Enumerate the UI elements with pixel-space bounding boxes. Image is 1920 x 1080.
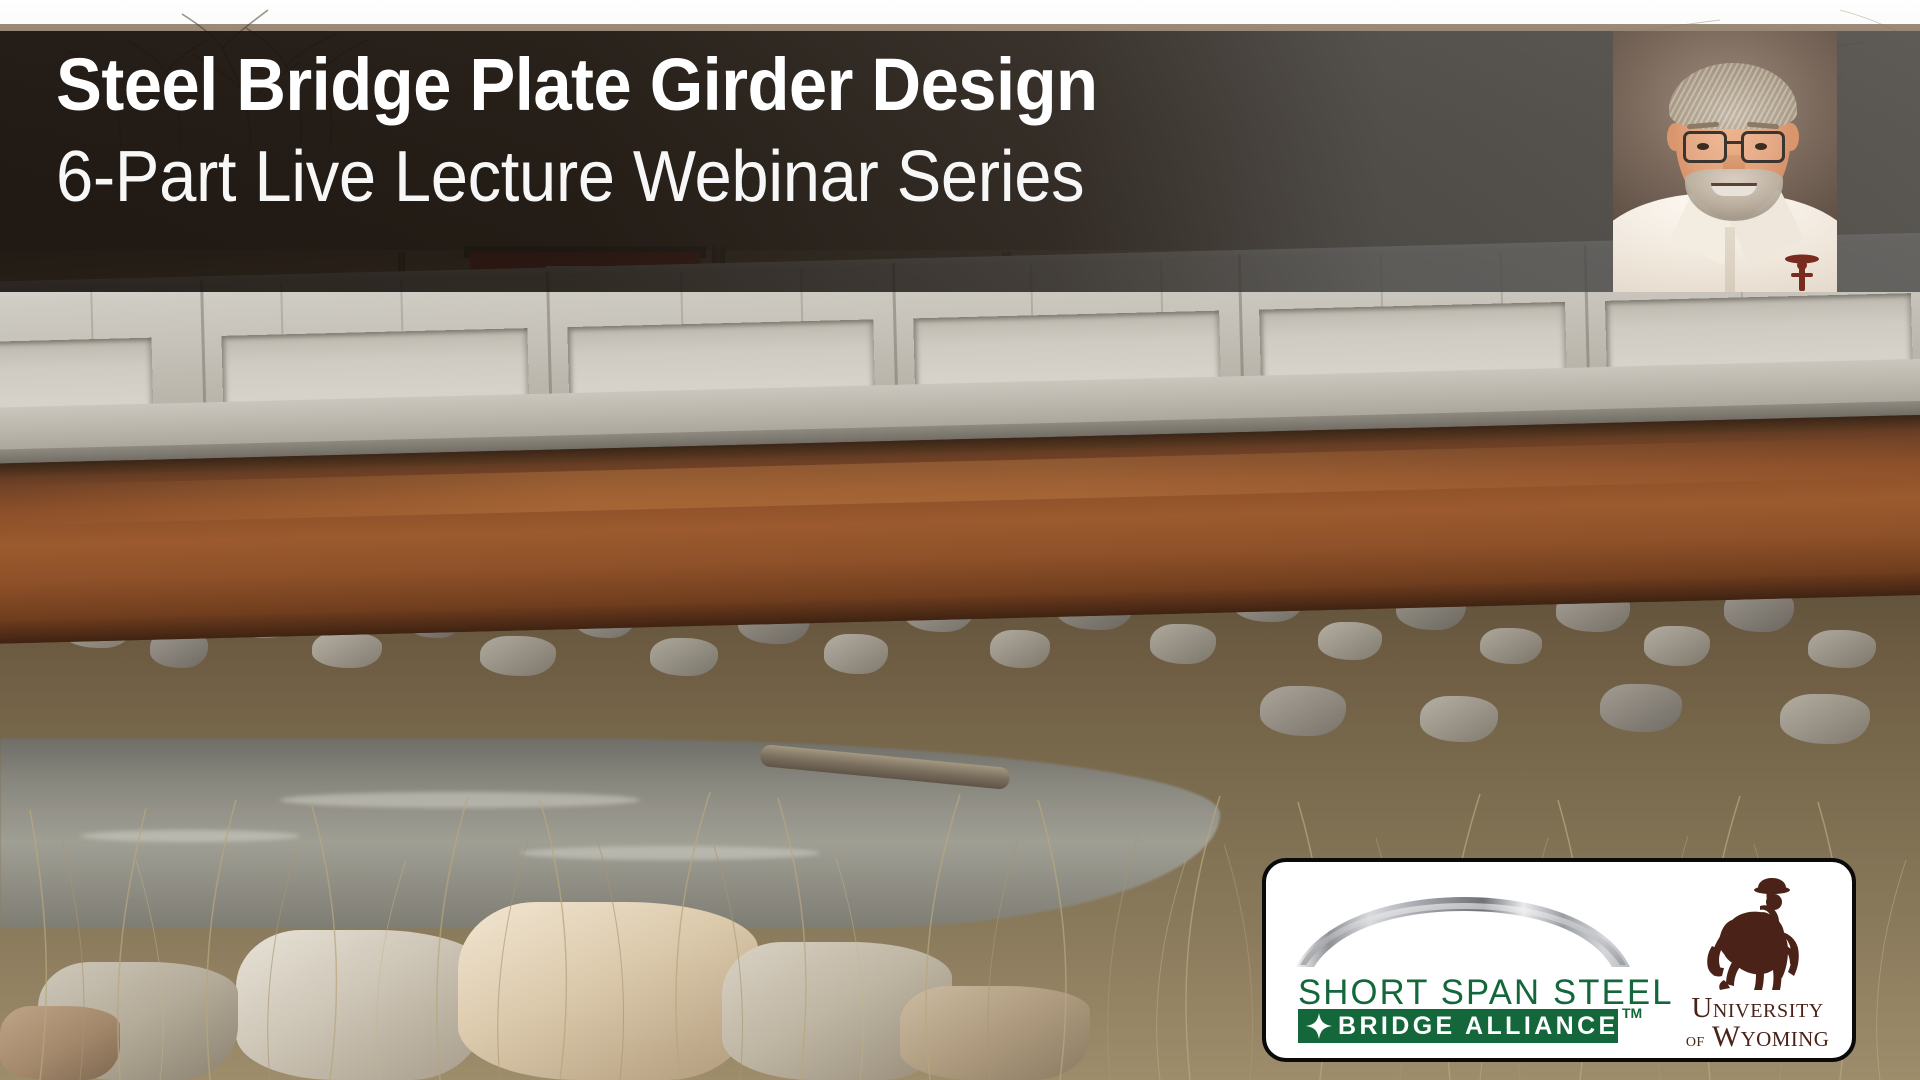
presenter-portrait [1613, 31, 1837, 292]
boulder [900, 986, 1090, 1080]
trademark-mark: TM [1622, 1005, 1642, 1021]
parapet-opening [1605, 293, 1913, 371]
boulder [0, 1006, 120, 1080]
parapet-opening [913, 311, 1221, 389]
eyeglass-bridge [1725, 141, 1743, 144]
ssba-line2: BRIDGE ALLIANCE [1338, 1012, 1619, 1041]
mouth [1711, 183, 1757, 196]
short-span-steel-bridge-alliance-logo: SHORT SPAN STEEL BRIDGE ALLIANCE TM [1288, 885, 1634, 1035]
slide-canvas: Steel Bridge Plate Girder Design 6-Part … [0, 0, 1920, 1080]
page-title: Steel Bridge Plate Girder Design [56, 48, 1432, 122]
shirt-embroidery-icon [1779, 253, 1825, 292]
page-subtitle: 6-Part Live Lecture Webinar Series [56, 141, 1432, 213]
parapet-opening [1259, 302, 1567, 380]
eye-right [1755, 143, 1767, 150]
university-of-wyoming-logo: University of Wyoming [1660, 876, 1852, 1044]
ssba-line1: SHORT SPAN STEEL [1298, 973, 1627, 1013]
parapet-opening [567, 319, 875, 397]
boulder [458, 902, 758, 1080]
bridge-structure [0, 232, 1920, 702]
shirt-placket [1725, 227, 1735, 292]
boulder [236, 930, 486, 1080]
chrome-arch-icon [1294, 895, 1632, 969]
parapet-opening [221, 328, 529, 406]
bucking-horse-icon [1696, 876, 1816, 992]
uw-line2: of Wyoming [1660, 1020, 1856, 1054]
sponsor-logo-card: SHORT SPAN STEEL BRIDGE ALLIANCE TM [1262, 858, 1856, 1062]
eye-left [1697, 143, 1709, 150]
four-point-star-icon [1306, 1013, 1332, 1039]
ssba-green-bar: BRIDGE ALLIANCE [1298, 1009, 1618, 1043]
parapet-opening [0, 338, 153, 412]
